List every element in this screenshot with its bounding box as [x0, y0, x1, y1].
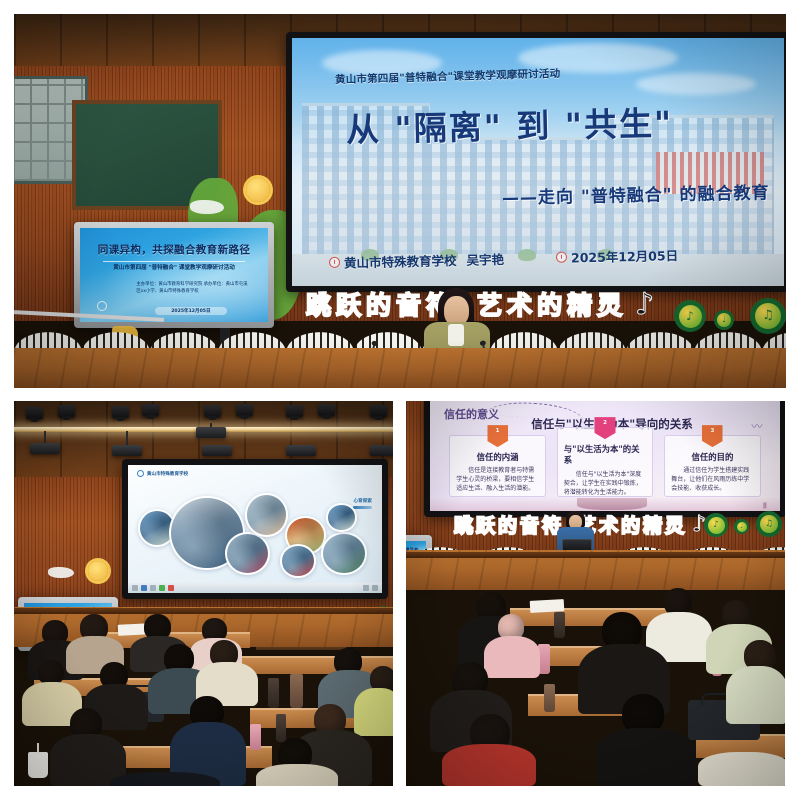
spotlight — [370, 405, 387, 417]
audience-desk — [242, 656, 393, 674]
photo-bubble — [321, 532, 367, 576]
photo-cloud — [636, 73, 756, 95]
taskbar-icon[interactable] — [372, 585, 378, 591]
music-circle-badge: ♫ — [756, 511, 782, 537]
spotlight — [26, 407, 43, 419]
taskbar[interactable] — [128, 583, 382, 593]
hero-footer-school: 黄山市特殊教育学校 吴宇艳 — [329, 249, 504, 272]
photo-bubble — [245, 493, 288, 537]
boat-decoration — [577, 498, 647, 510]
card-heading: 信任的目的 — [671, 452, 754, 463]
taskbar-icon[interactable] — [168, 585, 174, 591]
clock-icon — [556, 251, 567, 262]
bottom-row: 黄山市特殊教育学校 心育探索 — [14, 401, 786, 786]
projector — [112, 445, 142, 456]
cloud-decoration — [190, 200, 224, 214]
collage-screen-inner: 黄山市特殊教育学校 心育探索 — [128, 465, 382, 593]
photo-collage: 同课异构，共探融合教育新路径 黄山市第四届 "普特融合" 课堂教学观摩研讨活动 … — [0, 0, 800, 800]
trust-cards: 1 信任的内涵 信任是连接教育者与特需学生心灵的桥梁，要相信学生适应生活、融入生… — [449, 435, 761, 497]
audience-body — [596, 728, 696, 786]
taskbar-icon[interactable] — [132, 585, 138, 591]
spotlight — [236, 404, 253, 416]
projector — [370, 445, 393, 456]
hero-footer-school-label: 黄山市特殊教育学校 — [344, 250, 457, 272]
collage-slide-header: 黄山市特殊教育学校 — [137, 470, 188, 477]
sun-decoration — [88, 561, 108, 581]
taskbar-icon[interactable] — [159, 585, 165, 591]
thermos-bottle — [544, 684, 555, 712]
panel-bottom-right-auditorium: 信任的意义 信任与"以生活为本"导向的关系 〰 1 信任的内涵 信任是连接教育者… — [406, 401, 785, 786]
card-badge: 3 — [702, 425, 723, 447]
note-icon: ♫ — [755, 303, 781, 329]
card-body: 信任与"以生活为本"深度契合，让学生在实践中锻炼，将潜能转化为生活能力。 — [564, 470, 647, 497]
audience-body — [110, 772, 220, 786]
sun-decoration — [246, 178, 270, 202]
panel-bottom-left-auditorium: 黄山市特殊教育学校 心育探索 — [14, 401, 393, 786]
drink-cup — [28, 752, 48, 778]
main-led-screen[interactable]: 黄山市第四届"普特融合"课堂教学观摩研讨活动 从 "隔离" 到 "共生" ——走… — [286, 32, 786, 292]
card-body: 信任是连接教育者与特需学生心灵的桥梁，要相信学生适应生活、融入生活的潜能。 — [456, 466, 539, 493]
photo-bubble — [326, 503, 356, 531]
side-slide-rule — [103, 261, 246, 262]
card-body: 通过信任为学生搭建实践舞台，让他们在风雨历练中学会技能、收获成长。 — [671, 466, 754, 493]
panel-top-stage: 同课异构，共探融合教育新路径 黄山市第四届 "普特融合" 课堂教学观摩研讨活动 … — [14, 14, 786, 388]
thermos-bottle — [290, 674, 303, 708]
collage-slide-tag: 心育探索 — [353, 498, 371, 509]
collage-screen[interactable]: 黄山市特殊教育学校 心育探索 — [122, 459, 388, 599]
side-screen-inner: 同课异构，共探融合教育新路径 黄山市第四届 "普特融合" 课堂教学观摩研讨活动 … — [80, 228, 268, 322]
trust-slide: 信任的意义 信任与"以生活为本"导向的关系 〰 1 信任的内涵 信任是连接教育者… — [430, 401, 780, 511]
side-touchscreen[interactable]: 同课异构，共探融合教育新路径 黄山市第四届 "普特融合" 课堂教学观摩研讨活动 … — [74, 222, 274, 328]
note-icon: ♪ — [708, 517, 725, 534]
paper-sheet — [530, 599, 565, 613]
collage-slide-header-label: 黄山市特殊教育学校 — [147, 471, 188, 477]
bird-icon: 〰 — [752, 418, 763, 434]
music-circle-badge: ♪ — [704, 513, 728, 537]
trust-screen[interactable]: 信任的意义 信任与"以生活为本"导向的关系 〰 1 信任的内涵 信任是连接教育者… — [424, 401, 785, 517]
audience-body — [256, 764, 338, 786]
thermos-bottle — [276, 714, 286, 742]
audience-body — [726, 666, 785, 724]
water-bottle — [250, 724, 261, 750]
note-icon: ♩ — [717, 313, 731, 327]
presenter-collar — [448, 324, 464, 346]
thermos-bottle — [554, 612, 565, 638]
photo-bubble — [280, 544, 316, 577]
spotlight — [112, 406, 129, 418]
audience — [406, 554, 785, 786]
hero-subtitle: ——走向 "普特融合" 的融合教育 — [501, 178, 769, 209]
spotlight — [286, 405, 303, 417]
hero-footer-date-label: 2025年12月05日 — [571, 245, 678, 266]
taskbar-icon[interactable] — [141, 585, 147, 591]
spotlight — [142, 404, 159, 416]
audience — [14, 596, 393, 786]
side-slide: 同课异构，共探融合教育新路径 黄山市第四届 "普特融合" 课堂教学观摩研讨活动 … — [80, 228, 268, 322]
hero-title: 从 "隔离" 到 "共生" — [346, 97, 674, 152]
projector — [30, 443, 60, 454]
card-badge: 1 — [487, 425, 508, 447]
note-icon: ♩ — [737, 522, 747, 532]
music-circle-badge: ♩ — [714, 310, 734, 330]
spotlight — [204, 405, 221, 417]
side-slide-subtitle: 黄山市第四届 "普特融合" 课堂教学观摩研讨活动 — [95, 263, 253, 271]
logo-icon — [137, 470, 144, 477]
trust-card: 3 信任的目的 通过信任为学生搭建实践舞台，让他们在风雨历练中学会技能、收获成长… — [664, 435, 761, 497]
projector — [196, 427, 226, 438]
hero-slide: 黄山市第四届"普特融合"课堂教学观摩研讨活动 从 "隔离" 到 "共生" ——走… — [292, 38, 784, 286]
main-screen-inner: 黄山市第四届"普特融合"课堂教学观摩研讨活动 从 "隔离" 到 "共生" ——走… — [292, 38, 784, 286]
trust-screen-inner: 信任的意义 信任与"以生活为本"导向的关系 〰 1 信任的内涵 信任是连接教育者… — [430, 401, 780, 511]
music-circle-badge: ♫ — [750, 298, 786, 334]
school-icon — [329, 257, 340, 268]
card-heading: 信任的内涵 — [456, 452, 539, 463]
taskbar-icon[interactable] — [150, 585, 156, 591]
card-badge: 2 — [595, 417, 616, 439]
stage-floor — [14, 348, 786, 388]
audience-head — [722, 600, 750, 627]
audience-body — [442, 744, 536, 786]
audience-body — [354, 688, 393, 736]
trust-card: 2 与"以生活为本"的关系 信任与"以生活为本"深度契合，让学生在实践中锻炼，将… — [557, 427, 654, 497]
photo-bubble — [225, 532, 271, 576]
treble-clef-icon: ♪ — [679, 305, 702, 328]
audience-body — [698, 752, 785, 786]
projector — [286, 445, 316, 456]
side-slide-date: 2025年12月05日 — [155, 307, 226, 315]
side-slide-logo — [97, 301, 107, 311]
trust-card: 1 信任的内涵 信任是连接教育者与特需学生心灵的桥梁，要相信学生适应生活、融入生… — [449, 435, 546, 497]
note-icon: ♫ — [760, 515, 778, 533]
taskbar-icon[interactable] — [363, 585, 369, 591]
hero-footer-presenter: 吴宇艳 — [466, 249, 504, 269]
music-circle-badge: ♪ — [674, 300, 706, 332]
audience-body — [484, 636, 540, 678]
music-circle-badge: ♩ — [734, 519, 749, 534]
hero-footer-date: 2025年12月05日 — [556, 245, 678, 267]
card-heading: 与"以生活为本"的关系 — [564, 444, 647, 467]
reed-grass-decoration: |||||| — [763, 503, 766, 509]
side-slide-meta: 主办单位：黄山市教育科学研究院 承办单位：黄山市屯溪区xx小学、黄山市特殊教育学… — [136, 281, 249, 296]
spotlight — [58, 405, 75, 417]
cloud-decoration — [48, 567, 74, 578]
side-slide-title: 同课异构，共探融合教育新路径 — [91, 242, 256, 257]
spotlight — [318, 404, 335, 416]
thermos-bottle — [268, 678, 279, 708]
projector — [202, 445, 232, 456]
collage-slide: 黄山市特殊教育学校 心育探索 — [128, 465, 382, 593]
